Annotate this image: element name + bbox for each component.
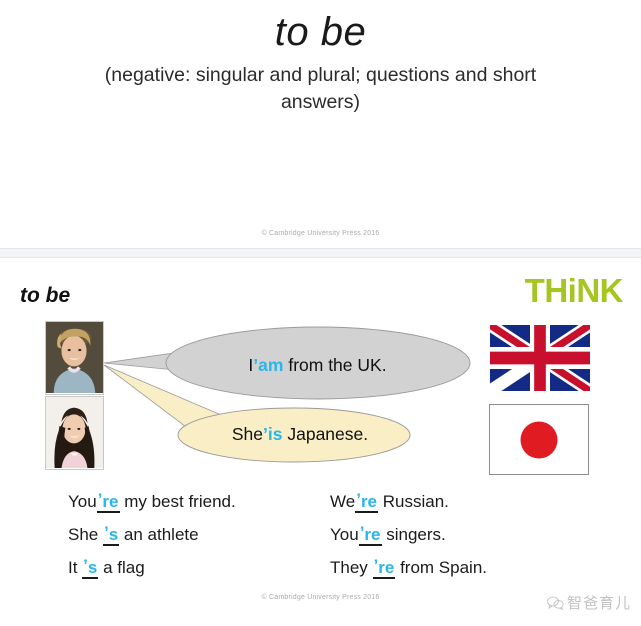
- girl-portrait-image: [46, 397, 103, 468]
- example-contraction: ’re: [373, 558, 396, 579]
- example-after: from Spain.: [395, 558, 487, 577]
- example-after: a flag: [98, 558, 144, 577]
- example-apostrophe: ’: [104, 516, 109, 549]
- example-contraction-letters: re: [361, 492, 377, 511]
- example-apostrophe: ’: [360, 516, 365, 549]
- wechat-icon: [547, 596, 564, 610]
- copyright-notice: © Cambridge University Press 2016: [0, 594, 641, 601]
- example-before: You: [330, 525, 359, 544]
- example-contraction-letters: s: [109, 525, 118, 544]
- example-contraction: ’re: [355, 492, 378, 513]
- example-before: It: [68, 558, 82, 577]
- example-contraction-letters: re: [364, 525, 380, 544]
- example-after: Russian.: [378, 492, 449, 511]
- example-sentence: You’re singers.: [330, 518, 487, 551]
- bubble-uk-suffix: from the UK.: [283, 355, 386, 375]
- bubble-japan-highlight: is: [268, 424, 283, 444]
- slide-title-page: to be (negative: singular and plural; qu…: [0, 0, 641, 248]
- example-before: They: [330, 558, 373, 577]
- example-contraction-letters: re: [378, 558, 394, 577]
- grammar-topic-label: to be: [20, 284, 70, 308]
- example-after: singers.: [382, 525, 446, 544]
- example-apostrophe: ’: [98, 483, 103, 516]
- page-subtitle: (negative: singular and plural; question…: [80, 62, 561, 116]
- example-after: an athlete: [119, 525, 198, 544]
- think-brand-logo: THiNK: [525, 272, 623, 310]
- uk-flag-image: [490, 325, 590, 391]
- girl-portrait-photo: [45, 396, 104, 470]
- slide-divider: [0, 248, 641, 258]
- example-contraction: ’s: [82, 558, 98, 579]
- speech-bubble-japan: She’is Japanese.: [178, 408, 410, 462]
- example-contraction: ’re: [359, 525, 382, 546]
- example-before: We: [330, 492, 355, 511]
- examples-left-column: You’re my best friend. She ’s an athlete…: [68, 485, 236, 584]
- example-sentence: It ’s a flag: [68, 551, 236, 584]
- example-sentence: You’re my best friend.: [68, 485, 236, 518]
- examples-right-column: We’re Russian. You’re singers. They ’re …: [330, 485, 487, 584]
- uk-flag: [489, 324, 591, 392]
- example-contraction-letters: s: [88, 558, 97, 577]
- example-apostrophe: ’: [83, 549, 88, 582]
- boy-portrait-image: [46, 322, 103, 393]
- example-contraction: ’re: [97, 492, 120, 513]
- example-contraction: ’s: [103, 525, 119, 546]
- japan-flag-sun-disc: [521, 421, 558, 458]
- channel-watermark: 智爸育儿: [547, 592, 631, 613]
- example-sentence: We’re Russian.: [330, 485, 487, 518]
- example-before: You: [68, 492, 97, 511]
- example-apostrophe: ’: [356, 483, 361, 516]
- example-apostrophe: ’: [374, 549, 379, 582]
- copyright-notice: © Cambridge University Press 2016: [0, 230, 641, 237]
- speech-bubble-japan-text: She’is Japanese.: [184, 424, 416, 445]
- japan-flag: [489, 404, 589, 475]
- bubble-japan-prefix: She: [232, 424, 263, 444]
- example-before: She: [68, 525, 103, 544]
- bubble-uk-highlight: am: [258, 355, 283, 375]
- boy-portrait-photo: [45, 321, 104, 395]
- example-sentence: They ’re from Spain.: [330, 551, 487, 584]
- example-after: my best friend.: [120, 492, 236, 511]
- watermark-text: 智爸育儿: [567, 592, 631, 613]
- speech-bubble-uk-text: I’am from the UK.: [165, 355, 470, 376]
- bubble-japan-suffix: Japanese.: [283, 424, 369, 444]
- speech-bubble-uk: I’am from the UK.: [165, 327, 470, 399]
- example-contraction-letters: re: [102, 492, 118, 511]
- example-sentence: She ’s an athlete: [68, 518, 236, 551]
- page-title: to be: [0, 10, 641, 55]
